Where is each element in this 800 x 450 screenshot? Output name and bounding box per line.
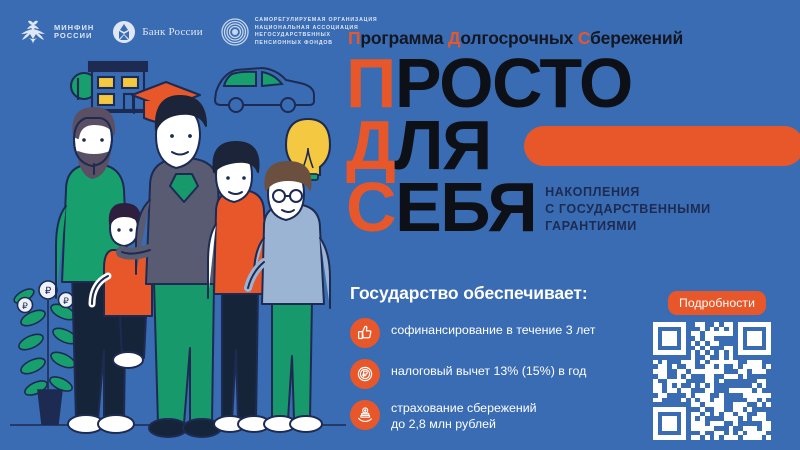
hand-coins-icon: [350, 400, 380, 430]
headline-3-rest: ЕБЯ: [395, 168, 536, 246]
subtitle-line-1: НАКОПЛЕНИЯ: [545, 184, 711, 201]
benefits-list: софинансирование в течение 3 лет налогов…: [350, 318, 650, 443]
logo-minfin-rossii: МИНФИН РОССИИ: [18, 19, 94, 45]
headline-line-2: ДЛЯ: [346, 114, 798, 176]
house-icon: [71, 62, 152, 112]
benefit-text-line-1: страхование сбережений: [391, 401, 537, 417]
benefit-item: налоговый вычет 13% (15%) в год: [350, 359, 650, 389]
svg-text:₽: ₽: [45, 286, 52, 297]
double-headed-eagle-icon: [18, 19, 48, 45]
benefit-item: софинансирование в течение 3 лет: [350, 318, 650, 348]
money-plant: ₽ ₽ ₽: [12, 281, 79, 424]
family-illustration: ₽ ₽ ₽: [0, 0, 346, 450]
headline-line-3: СЕБЯ НАКОПЛЕНИЯ С ГОСУДАРСТВЕННЫМИ ГАРАН…: [346, 176, 798, 238]
car-icon: [215, 68, 314, 112]
logo-bank-rossii: Банк России: [112, 20, 203, 44]
concentric-circles-icon: [221, 18, 249, 46]
benefit-item: страхование сбережений до 2,8 млн рублей: [350, 400, 650, 432]
benefit-text: софинансирование в течение 3 лет: [391, 318, 595, 339]
logo-minfin-label: МИНФИН РОССИИ: [54, 24, 94, 41]
subtitle-line-3: ГАРАНТИЯМИ: [545, 218, 711, 235]
promo-banner: ₽ ₽ ₽: [0, 0, 800, 450]
headline-3-first: С: [346, 168, 395, 246]
cbr-emblem-icon: [112, 20, 136, 44]
details-button[interactable]: Подробности: [668, 291, 766, 315]
ruble-coin-icon: [350, 359, 380, 389]
logo-bank-rossii-label: Банк России: [142, 26, 203, 38]
qr-code[interactable]: [653, 322, 771, 440]
partner-logos: МИНФИН РОССИИ Банк России САМОРЕГУЛИРУЕМ…: [18, 17, 377, 47]
benefit-text: налоговый вычет 13% (15%) в год: [391, 359, 586, 380]
svg-text:₽: ₽: [22, 301, 28, 311]
main-headline: ПРОСТО ДЛЯ СЕБЯ НАКОПЛЕНИЯ С ГОСУДАРСТВЕ…: [346, 52, 798, 238]
headline-line-1: ПРОСТО: [346, 52, 798, 114]
benefit-text-line-2: до 2,8 млн рублей: [391, 417, 537, 433]
provides-title: Государство обеспечивает:: [350, 283, 588, 304]
headline-subtitle: НАКОПЛЕНИЯ С ГОСУДАРСТВЕННЫМИ ГАРАНТИЯМИ: [545, 184, 711, 238]
svg-text:₽: ₽: [63, 296, 69, 306]
thumbs-up-icon: [350, 318, 380, 348]
orange-accent-bar: [524, 126, 800, 166]
subtitle-line-2: С ГОСУДАРСТВЕННЫМИ: [545, 201, 711, 218]
benefit-text: страхование сбережений до 2,8 млн рублей: [391, 400, 537, 432]
